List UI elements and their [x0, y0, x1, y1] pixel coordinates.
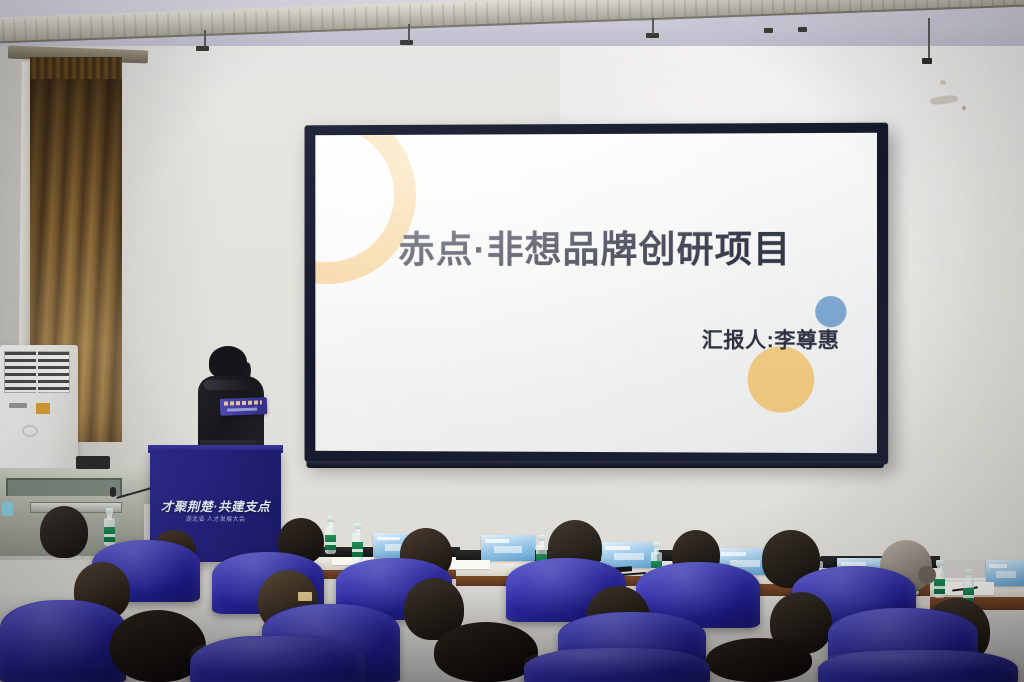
- wall-fixture: [922, 58, 932, 64]
- name-card-name-text: [614, 553, 643, 560]
- auditorium-seat-icon[interactable]: [190, 636, 366, 682]
- presenter-hair: [209, 346, 247, 378]
- ceiling-bracket: [400, 40, 413, 45]
- name-card-name-text: [996, 571, 1017, 578]
- badge-subtitle-text: [227, 408, 257, 412]
- presentation-slide: 赤点·非想品牌创研项目 汇报人:李尊惠: [315, 133, 877, 453]
- ceiling-bracket: [764, 28, 773, 33]
- ceiling-bracket: [196, 46, 209, 51]
- projection-screen-surface: 赤点·非想品牌创研项目 汇报人:李尊惠: [315, 133, 877, 453]
- name-card-heading: [605, 546, 630, 549]
- curtain-pleat-header: [30, 57, 122, 79]
- presenter-person: [196, 348, 266, 452]
- ac-vent-divider: [36, 351, 38, 393]
- water-bottle-icon: [352, 523, 363, 561]
- bottle-cap: [327, 516, 334, 522]
- name-card-icon: [601, 542, 657, 568]
- bottle-cap: [965, 569, 972, 575]
- bottle-cap: [106, 508, 113, 514]
- podium-slogan: 才聚荆楚·共建支点: [150, 496, 281, 515]
- ceiling-hanger-rod: [652, 18, 654, 34]
- slide-title: 赤点·非想品牌创研项目: [398, 230, 836, 271]
- hair-clip-icon: [298, 592, 312, 601]
- podium-sub-slogan: 湖北省 人才发展大会: [150, 514, 281, 523]
- cup: [2, 502, 13, 516]
- air-conditioner-icon: [0, 345, 78, 477]
- bottle-cap: [538, 535, 545, 541]
- bottle-cap: [653, 542, 660, 548]
- ceiling-hanger-rod: [928, 18, 930, 60]
- ac-brand-logo: [9, 403, 27, 408]
- water-bottle-icon: [325, 516, 336, 554]
- audience-hair-bun: [918, 566, 936, 584]
- presenter-shoulder-highlight: [204, 380, 256, 390]
- ceiling-hanger-rod: [204, 30, 206, 47]
- speaker-name-badge: [220, 397, 268, 416]
- orange-circle-icon: [748, 346, 815, 412]
- bottle-label-stripe: [352, 549, 363, 552]
- blue-circle-icon: [815, 296, 846, 327]
- wall-nail: [962, 106, 966, 110]
- bottle-label-stripe: [934, 586, 945, 589]
- conference-room-photo: 赤点·非想品牌创研项目 汇报人:李尊惠: [0, 0, 1024, 682]
- bottle-label-stripe: [325, 542, 336, 545]
- bottle-label-stripe: [104, 534, 115, 537]
- projection-screen-frame: 赤点·非想品牌创研项目 汇报人:李尊惠: [305, 123, 889, 465]
- wall-mark: [940, 80, 946, 85]
- name-card-name-text: [494, 546, 522, 553]
- microphone-head: [110, 487, 116, 497]
- audience-head-foreground: [706, 638, 812, 682]
- audience-head: [40, 506, 88, 558]
- badge-title-text: [224, 400, 262, 405]
- bottle-label-stripe: [963, 595, 974, 598]
- water-bottle-icon: [934, 560, 945, 598]
- bottle-cap: [936, 560, 943, 566]
- name-card-heading: [721, 552, 746, 556]
- ac-energy-label: [36, 403, 50, 414]
- name-card-heading: [485, 539, 509, 542]
- auditorium-seat-icon[interactable]: [0, 600, 126, 682]
- ac-display-ring: [22, 425, 38, 437]
- av-device-box: [76, 456, 110, 469]
- name-card-heading: [377, 537, 400, 540]
- name-card-icon: [481, 535, 535, 561]
- ceiling-hanger-rod: [408, 24, 410, 41]
- auditorium-seat-icon[interactable]: [524, 648, 710, 682]
- name-card-heading: [989, 564, 1007, 567]
- screen-bottom-rail: [306, 461, 884, 468]
- slide-presenter-line: 汇报人:李尊惠: [702, 324, 840, 354]
- ceiling-bracket: [798, 27, 807, 32]
- auditorium-seat-icon[interactable]: [818, 650, 1018, 682]
- water-bottle-icon: [104, 508, 115, 546]
- bottle-cap: [354, 523, 361, 529]
- audience-head-foreground: [434, 622, 538, 682]
